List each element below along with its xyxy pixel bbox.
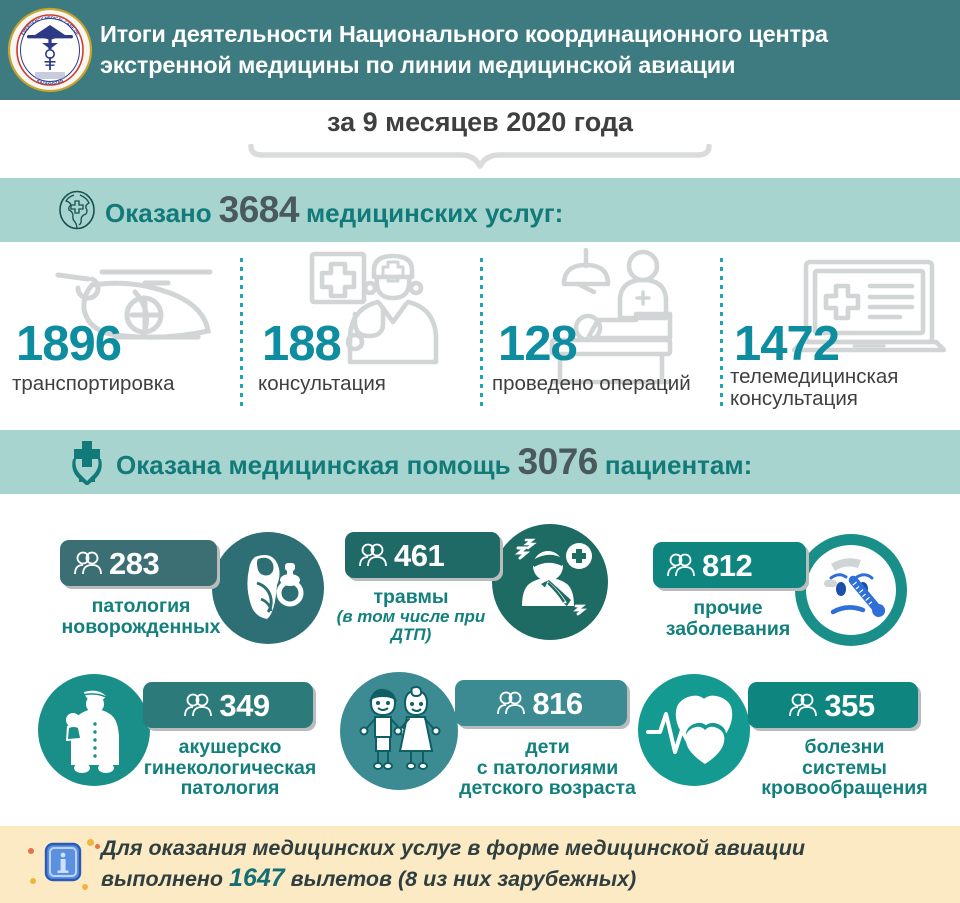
header-title-line-2: экстренной медицины по линии медицинской… — [100, 50, 838, 81]
category-label-newborn: патология новорожденных — [46, 596, 236, 637]
nurse-holding-baby-icon — [38, 674, 150, 786]
services-row: 1896 транспортировка 188 — [0, 242, 960, 430]
service-label-operations: проведено операций — [492, 373, 691, 395]
services-band: Оказано 3684 медицинских услуг: — [0, 178, 960, 242]
people-icon — [789, 692, 817, 718]
category-label-circulatory-line-2: системы — [742, 758, 947, 779]
category-value-circulatory: 355 — [824, 690, 874, 721]
category-label-circulatory-line-1: болезни — [742, 737, 947, 758]
subtitle-zone: за 9 месяцев 2020 года — [0, 100, 960, 178]
people-icon — [184, 692, 212, 718]
category-label-obstetric-line-1: акушерско — [135, 737, 325, 758]
category-label-newborn-line-2: новорожденных — [46, 617, 236, 638]
service-item-consultation: 188 консультация — [240, 242, 480, 430]
category-badge-newborn: 283 — [60, 540, 217, 586]
people-icon — [74, 550, 102, 576]
emergency-medical-care-of-kazakhstan-logo: EMERGENCY MEDICAL CARE OF KAZAKHSTAN — [7, 7, 93, 93]
category-value-obstetric: 349 — [219, 690, 269, 721]
people-icon — [667, 552, 695, 578]
footer-line-2: выполнено 1647 вылетов (8 из них зарубеж… — [101, 862, 805, 895]
patients-band-text: Оказана медицинская помощь 3076 пациента… — [116, 441, 752, 483]
service-label-telemedicine: телемедицинская консультация — [730, 366, 898, 410]
decorative-dot — [82, 884, 88, 890]
category-label-children: дети с патологиями детского возраста — [450, 737, 645, 799]
services-band-text: Оказано 3684 медицинских услуг: — [105, 189, 563, 231]
service-value-consultation: 188 — [262, 320, 341, 369]
services-band-suffix: медицинских услуг: — [306, 198, 563, 229]
people-icon — [359, 542, 387, 568]
category-badge-trauma: 461 — [345, 532, 500, 578]
category-label-children-line-1: дети — [450, 737, 645, 758]
category-value-newborn: 283 — [109, 548, 159, 579]
header-title-line-1: Итоги деятельности Национального координ… — [100, 19, 838, 50]
service-label-consultation: консультация — [258, 373, 386, 395]
category-value-children: 816 — [532, 688, 582, 719]
decorative-dot — [95, 844, 100, 849]
footer-note: Для оказания медицинских услуг в форме м… — [0, 826, 960, 903]
category-label-other: прочие заболевания — [638, 598, 818, 639]
info-icon — [44, 841, 84, 888]
service-label-transport: транспортировка — [12, 373, 175, 395]
service-value-transport: 1896 — [16, 320, 121, 369]
category-label-trauma-line-1: травмы — [318, 587, 504, 608]
category-label-children-line-2: с патологиями — [450, 758, 645, 779]
patients-total: 3076 — [511, 441, 605, 483]
globe-cross-icon — [58, 190, 96, 230]
decorative-dot — [87, 839, 94, 846]
category-label-trauma: травмы (в том числе при ДТП) — [318, 587, 504, 644]
service-label-telemedicine-line-2: консультация — [730, 388, 898, 410]
patients-band-prefix: Оказана медицинская помощь — [116, 450, 511, 481]
category-value-trauma: 461 — [394, 540, 444, 571]
category-label-obstetric-line-2: гинекологическая — [135, 758, 325, 779]
patient-categories: 283 патология новорожденных — [0, 494, 960, 820]
service-item-transport: 1896 транспортировка — [0, 242, 240, 430]
service-value-telemedicine: 1472 — [734, 320, 839, 369]
category-label-circulatory-line-3: кровообращения — [742, 778, 947, 799]
people-icon — [497, 690, 525, 716]
category-label-obstetric: акушерско гинекологическая патология — [135, 737, 325, 799]
two-children-icon — [340, 672, 458, 790]
service-item-telemedicine: 1472 телемедицинская консультация — [720, 242, 960, 430]
decorative-dot — [30, 878, 36, 884]
injured-person-icon — [492, 524, 608, 640]
header: EMERGENCY MEDICAL CARE OF KAZAKHSTAN Ито… — [0, 0, 960, 100]
category-badge-other: 812 — [653, 542, 806, 588]
page-title: Итоги деятельности Национального координ… — [100, 19, 838, 80]
infographic-page: EMERGENCY MEDICAL CARE OF KAZAKHSTAN Ито… — [0, 0, 960, 903]
category-value-other: 812 — [702, 550, 752, 581]
category-sublabel-trauma: (в том числе при ДТП) — [318, 608, 504, 644]
services-band-prefix: Оказано — [105, 198, 212, 229]
hands-holding-cross-icon — [66, 439, 108, 485]
footer-flights-count: 1647 — [229, 864, 285, 892]
service-label-telemedicine-line-1: телемедицинская — [730, 366, 898, 388]
service-item-operations: 128 проведено операций — [480, 242, 720, 430]
footer-text: Для оказания медицинских услуг в форме м… — [101, 834, 805, 895]
hearts-ecg-icon — [638, 674, 750, 786]
services-total: 3684 — [212, 189, 306, 231]
organization-logo: EMERGENCY MEDICAL CARE OF KAZAKHSTAN — [0, 0, 100, 100]
decorative-dot — [28, 848, 34, 854]
category-badge-obstetric: 349 — [143, 682, 313, 728]
patients-band-suffix: пациентам: — [605, 450, 752, 481]
curly-brace-decoration — [245, 144, 715, 170]
category-label-obstetric-line-3: патология — [135, 778, 325, 799]
service-value-operations: 128 — [498, 320, 577, 369]
category-label-newborn-line-1: патология — [46, 596, 236, 617]
footer-line-2-post: вылетов (8 из них зарубежных) — [291, 867, 637, 891]
category-badge-children: 816 — [455, 680, 627, 726]
category-label-children-line-3: детского возраста — [450, 778, 645, 799]
footer-line-2-pre: выполнено — [101, 867, 223, 891]
category-label-other-line-2: заболевания — [638, 619, 818, 640]
period-subtitle: за 9 месяцев 2020 года — [0, 107, 960, 138]
patients-band: Оказана медицинская помощь 3076 пациента… — [0, 430, 960, 494]
category-badge-circulatory: 355 — [748, 682, 918, 728]
category-label-circulatory: болезни системы кровообращения — [742, 737, 947, 799]
footer-line-1: Для оказания медицинских услуг в форме м… — [101, 834, 805, 862]
category-label-other-line-1: прочие — [638, 598, 818, 619]
